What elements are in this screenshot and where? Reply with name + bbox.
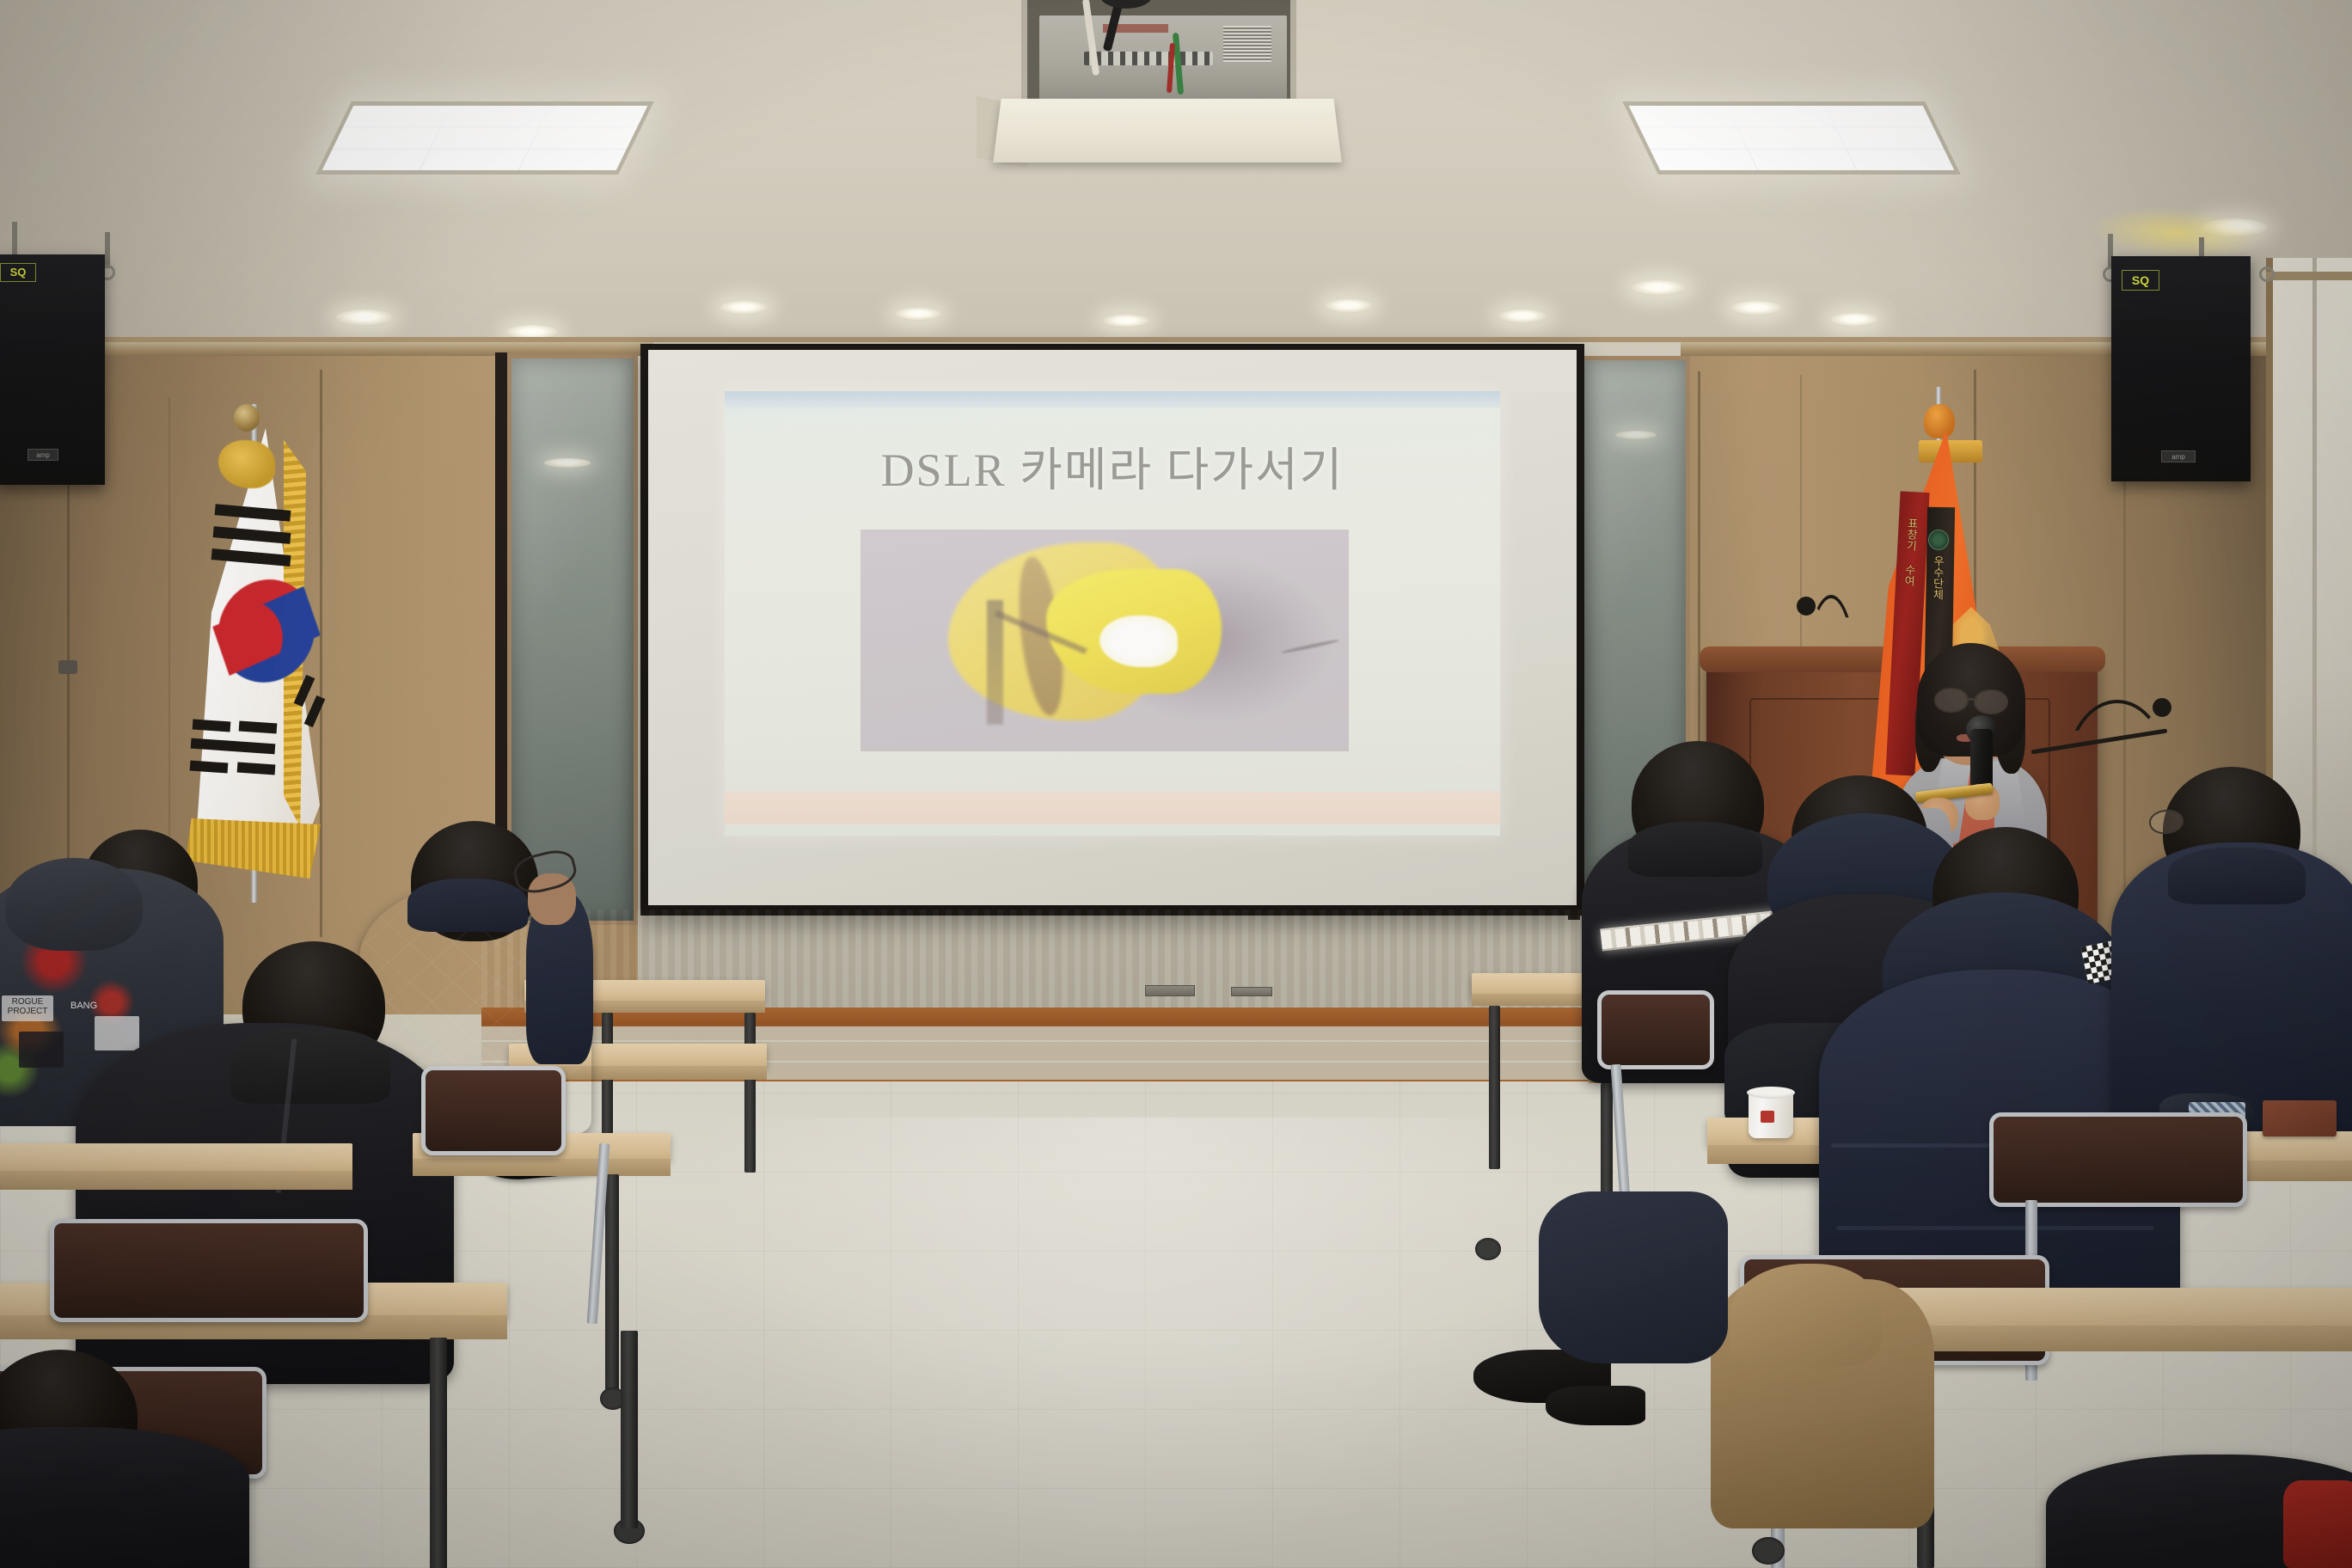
- gooseneck-mic-head-right: [2153, 698, 2171, 717]
- desk-caster: [1475, 1238, 1501, 1260]
- gooseneck-mic-left: [1804, 602, 1852, 691]
- jacket-patch: [19, 1032, 64, 1068]
- jacket-patch: [95, 1016, 139, 1050]
- projector-body: [1039, 15, 1287, 101]
- student-knee: [1730, 1264, 1881, 1367]
- speaker-brand-logo: SQ: [0, 263, 36, 282]
- floor-reflection: [705, 1118, 1565, 1565]
- desk-leg: [605, 1174, 619, 1398]
- slide-top-band: [725, 391, 1501, 407]
- paper-cup: [1749, 1092, 1793, 1138]
- ceiling-light-troffer-right: [1622, 101, 1960, 175]
- slide-title: DSLR 카메라 다가서기: [779, 432, 1446, 499]
- presenter-glasses-left-lens: [1934, 688, 1969, 713]
- projection-screen: DSLR 카메라 다가서기: [640, 344, 1584, 916]
- desk-caster: [1752, 1537, 1785, 1565]
- puffer-seam: [1836, 1226, 2154, 1230]
- downlight-icon: [719, 301, 769, 315]
- downlight-icon: [1730, 301, 1783, 315]
- paper-cup-rim: [1747, 1087, 1795, 1099]
- screen-surface: DSLR 카메라 다가서기: [648, 350, 1577, 905]
- paper-cup-logo: [1761, 1111, 1774, 1123]
- slide-bottom-band: [725, 792, 1501, 825]
- chair[interactable]: [421, 1066, 566, 1155]
- ceiling-light-troffer-left: [315, 101, 653, 175]
- right-window-mullion: [2312, 258, 2317, 946]
- gooseneck-mic-head-left: [1797, 597, 1816, 616]
- student-red-accent: [2283, 1480, 2352, 1568]
- lecture-hall-photo: SQ amp SQ amp DSLR 카메라 다가서기: [0, 0, 2352, 1568]
- desk: [1862, 1288, 2352, 1327]
- door-handle-left[interactable]: [58, 660, 77, 674]
- floor-outlet-plate: [1231, 987, 1272, 996]
- student-collar: [407, 879, 528, 932]
- projector-vent: [1223, 26, 1271, 62]
- desk-edge: [0, 1171, 352, 1190]
- ceiling-access-panel: [993, 99, 1342, 162]
- chair[interactable]: [1597, 990, 1714, 1069]
- jacket-patch-text: BANG: [70, 1001, 105, 1011]
- slide-photo: [861, 530, 1350, 751]
- desk-edge: [413, 1159, 671, 1176]
- flag-finial-right: [1924, 404, 1955, 438]
- desk-leg: [621, 1331, 638, 1528]
- chair[interactable]: [50, 1219, 368, 1322]
- desk-edge: [1862, 1326, 2352, 1351]
- student-trouser-leg: [1539, 1191, 1728, 1363]
- wall-seam: [320, 370, 322, 937]
- wall-seam: [168, 397, 170, 913]
- downlight-icon: [1829, 313, 1879, 327]
- student-hood-graphic: [5, 858, 143, 951]
- desk: [0, 1143, 352, 1173]
- speaker-hanger-eye: [2259, 266, 2275, 282]
- projected-slide: DSLR 카메라 다가서기: [725, 391, 1501, 836]
- speaker-badge: amp: [2161, 450, 2196, 462]
- flag-black-ribbon-text: 우수단체: [1931, 555, 1945, 600]
- glass-sheen: [511, 358, 634, 921]
- desk-leg: [1489, 1006, 1500, 1169]
- downlight-icon: [335, 309, 394, 326]
- floor-outlet-plate: [1145, 985, 1195, 996]
- lamp-hotspot: [1099, 616, 1178, 666]
- projector-dome: [1099, 0, 1153, 9]
- presenter-glasses-bridge: [1967, 698, 1977, 701]
- crown-molding-right: [1681, 342, 2352, 356]
- student-collar: [1628, 822, 1762, 877]
- student-front-left: [0, 1427, 249, 1568]
- desk-leg: [744, 1013, 756, 1173]
- downlight-icon: [1102, 315, 1150, 328]
- jacket-patch-text: ROGUEPROJECT: [2, 997, 53, 1016]
- flag-ribbon-text: 표창기 수여: [1902, 518, 1919, 587]
- speaker-hanger: [12, 222, 17, 256]
- flag-finial-left: [234, 404, 260, 432]
- student-collar: [2168, 848, 2306, 904]
- lamp-stand: [987, 600, 1002, 725]
- downlight-icon: [1630, 280, 1687, 296]
- coat-collar: [230, 1028, 390, 1104]
- speaker-brand-logo: SQ: [2122, 270, 2159, 291]
- downlight-icon: [894, 308, 942, 321]
- downlight-icon: [1498, 309, 1547, 323]
- chair[interactable]: [1989, 1112, 2247, 1207]
- wallet: [2263, 1100, 2337, 1136]
- student-shoe: [1546, 1386, 1645, 1425]
- projector-port-row: [1084, 52, 1213, 65]
- flag-seal-icon: [1928, 530, 1949, 550]
- door-reflection-light-icon: [1615, 431, 1657, 439]
- frosted-glass-door-left[interactable]: [507, 354, 638, 925]
- speaker-hanger: [105, 232, 110, 268]
- door-reflection-light-icon: [544, 458, 591, 468]
- downlight-icon: [1324, 299, 1374, 313]
- presenter-glasses-right-lens: [1974, 689, 2008, 714]
- right-window-sill: [2266, 272, 2352, 280]
- desk-leg: [430, 1338, 447, 1568]
- ceiling-speaker-left: SQ amp: [0, 254, 105, 485]
- ceiling-speaker-right: SQ amp: [2111, 256, 2251, 481]
- speaker-badge: amp: [28, 449, 58, 461]
